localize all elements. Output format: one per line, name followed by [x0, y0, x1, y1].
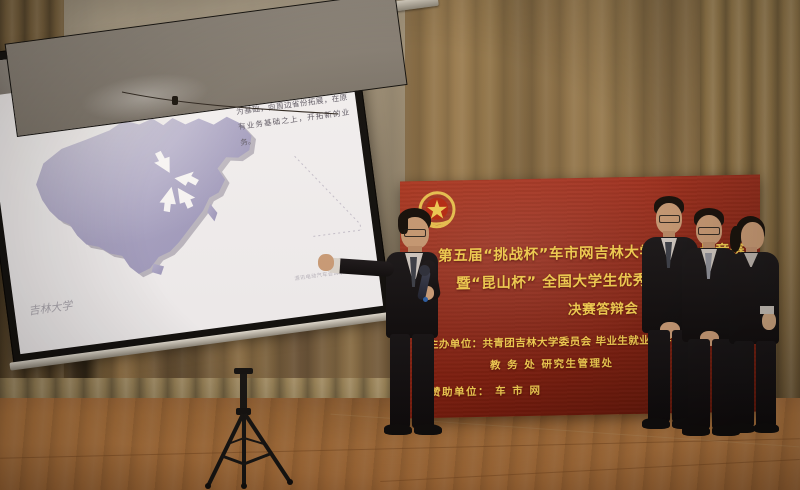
teammate-3-leg-left [734, 341, 754, 427]
presenter-pointing-hand [318, 254, 334, 271]
presenter-shoe-right [414, 424, 442, 435]
teammate-1-leg-left [648, 330, 670, 422]
teammate-3-top [729, 252, 779, 344]
cable-svg [120, 88, 340, 118]
teammate-3-ponytail [730, 226, 741, 252]
presenter-leg-right [412, 334, 434, 428]
teammate-3-leg-right [756, 341, 776, 427]
banner-line-6-sponsor: 赞助单位： 车 市 网 [430, 383, 541, 400]
screen-tripod [178, 368, 318, 490]
teammate-3-head [741, 222, 764, 250]
presenter-glasses-icon [404, 229, 426, 237]
microphone-indicator [423, 297, 428, 302]
presenter-leg-left [390, 334, 410, 428]
microphone-head-icon [419, 265, 430, 276]
presenter-shoe-left [384, 424, 412, 435]
teammate-2-glasses-icon [698, 227, 720, 235]
teammate-1-shoe-left [642, 418, 670, 429]
photo-scene: 发展战略 [0, 0, 800, 490]
teammate-3-cuff [760, 306, 774, 314]
teammate-2-leg-left [688, 339, 710, 429]
teammate-2-shoe-left [682, 425, 710, 436]
presenter [320, 208, 440, 438]
banner-line-3: 决赛答辩会 [568, 297, 639, 318]
presenter-pointing-arm [332, 258, 395, 277]
teammate-3-hand [762, 312, 776, 330]
banner-line-5-departments: 教 务 处 研究生管理处 [490, 355, 613, 372]
teammate-3-shoe-left [730, 423, 755, 433]
teammate-3 [718, 216, 792, 436]
tripod-svg [178, 368, 318, 490]
screen-cable [120, 88, 340, 118]
teammate-3-shoe-right [754, 423, 779, 433]
